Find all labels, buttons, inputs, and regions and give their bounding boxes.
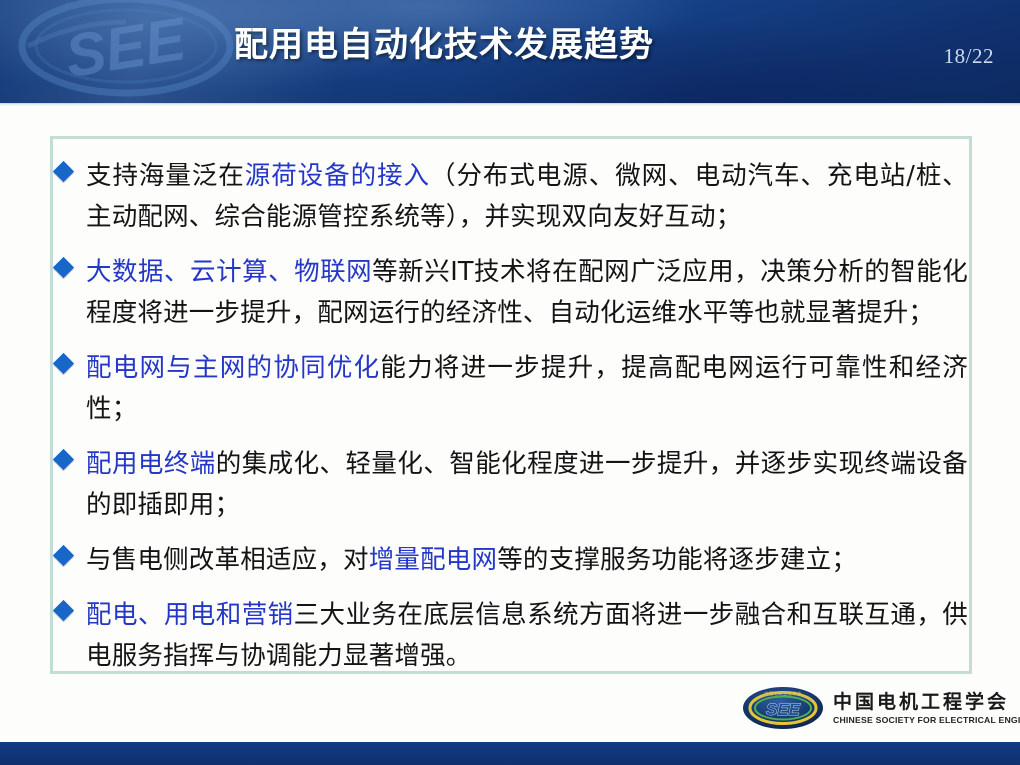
svg-text:SEE: SEE — [766, 700, 801, 719]
bullet-row: 大数据、云计算、物联网等新兴IT技术将在配网广泛应用，决策分析的智能化程度将进一… — [56, 252, 968, 334]
diamond-shape — [53, 545, 74, 566]
bullet-segment: 与售电侧改革相适应，对 — [86, 545, 369, 575]
diamond-shape — [53, 257, 74, 278]
footer-bar — [0, 742, 1020, 765]
bullet-text: 配电网与主网的协同优化能力将进一步提升，提高配电网运行可靠性和经济性； — [86, 348, 968, 430]
bullet-row: 与售电侧改革相适应，对增量配电网等的支撑服务功能将逐步建立； — [56, 540, 968, 581]
diamond-bullet-icon — [56, 156, 86, 184]
footer-org-names: 中国电机工程学会 CHINESE SOCIETY FOR ELECTRICAL … — [833, 691, 1020, 726]
bullet-text: 配用电终端的集成化、轻量化、智能化程度进一步提升，并逐步实现终端设备的即插即用； — [86, 444, 968, 526]
highlighted-term: 配电、用电和营销 — [86, 600, 294, 630]
bullet-list: 支持海量泛在源荷设备的接入（分布式电源、微网、电动汽车、充电站/桩、主动配网、综… — [56, 156, 968, 691]
diamond-shape — [53, 600, 74, 621]
bullet-text: 配电、用电和营销三大业务在底层信息系统方面将进一步融合和互联互通，供电服务指挥与… — [86, 595, 968, 677]
highlighted-term: 增量配电网 — [369, 545, 498, 575]
footer-org-en: CHINESE SOCIETY FOR ELECTRICAL ENGINEERI… — [833, 714, 1020, 726]
bullet-text: 与售电侧改革相适应，对增量配电网等的支撑服务功能将逐步建立； — [86, 540, 968, 581]
bullet-row: 配用电终端的集成化、轻量化、智能化程度进一步提升，并逐步实现终端设备的即插即用； — [56, 444, 968, 526]
bullet-segment: 的集成化、轻量化、智能化程度进一步提升，并逐步实现终端设备的即插即用； — [86, 449, 968, 520]
bullet-segment: 支持海量泛在 — [86, 161, 245, 191]
diamond-shape — [53, 449, 74, 470]
bullet-segment: 等的支撑服务功能将逐步建立； — [497, 545, 857, 575]
svg-text:SEE: SEE — [61, 5, 192, 90]
bullet-row: 配电、用电和营销三大业务在底层信息系统方面将进一步融合和互联互通，供电服务指挥与… — [56, 595, 968, 677]
diamond-shape — [53, 353, 74, 374]
bullet-row: 支持海量泛在源荷设备的接入（分布式电源、微网、电动汽车、充电站/桩、主动配网、综… — [56, 156, 968, 238]
footer-logo: SEE 中国电机工程学会 中国电机工程学会 CHINESE SOCIETY FO… — [742, 684, 1008, 732]
highlighted-term: 配用电终端 — [86, 449, 216, 479]
highlighted-term: 大数据、云计算、物联网 — [86, 257, 372, 287]
diamond-bullet-icon — [56, 252, 86, 280]
bullet-text: 大数据、云计算、物联网等新兴IT技术将在配网广泛应用，决策分析的智能化程度将进一… — [86, 252, 968, 334]
diamond-bullet-icon — [56, 444, 86, 472]
diamond-bullet-icon — [56, 540, 86, 568]
slide-header: SEE 配用电自动化技术发展趋势 18/22 — [0, 0, 1020, 103]
highlighted-term: 源荷设备的接入 — [245, 161, 430, 191]
diamond-bullet-icon — [56, 348, 86, 376]
highlighted-term: 配电网与主网的协同优化 — [86, 353, 380, 383]
svg-text:中国电机工程学会: 中国电机工程学会 — [764, 690, 802, 696]
footer-org-cn: 中国电机工程学会 — [833, 692, 1020, 714]
slide-title: 配用电自动化技术发展趋势 — [234, 22, 834, 68]
see-watermark-logo: SEE — [14, 0, 246, 103]
see-emblem-icon: SEE 中国电机工程学会 — [742, 686, 824, 730]
diamond-bullet-icon — [56, 595, 86, 623]
diamond-shape — [53, 161, 74, 182]
slide: SEE 配用电自动化技术发展趋势 18/22 支持海量泛在源荷设备的接入（分布式… — [0, 0, 1020, 765]
page-number: 18/22 — [944, 44, 994, 69]
bullet-row: 配电网与主网的协同优化能力将进一步提升，提高配电网运行可靠性和经济性； — [56, 348, 968, 430]
bullet-text: 支持海量泛在源荷设备的接入（分布式电源、微网、电动汽车、充电站/桩、主动配网、综… — [86, 156, 968, 238]
header-underline — [0, 103, 1020, 106]
